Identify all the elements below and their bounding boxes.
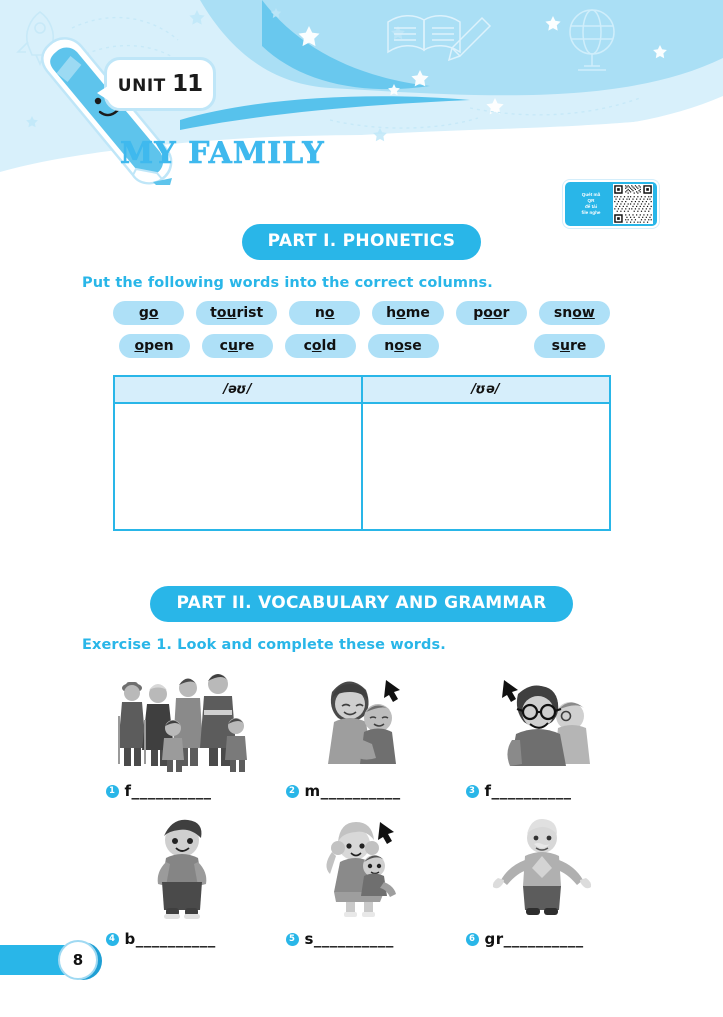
exercise-items-row-2: 4 b__________ bbox=[92, 814, 632, 948]
unit-number: 11 bbox=[172, 71, 202, 97]
column-header-uo: /ʊə/ bbox=[362, 376, 610, 403]
word-text: home bbox=[386, 305, 430, 321]
exercise-answer-6: 6 gr__________ bbox=[452, 930, 584, 948]
word-text: no bbox=[315, 305, 335, 321]
mother-hugging-child-illustration bbox=[282, 666, 442, 774]
word-text: snow bbox=[554, 305, 595, 321]
exercise-item-6: 6 gr__________ bbox=[452, 814, 632, 948]
item-number-badge: 3 bbox=[466, 785, 479, 798]
part-2-banner-wrap: PART II. VOCABULARY AND GRAMMAR bbox=[0, 586, 723, 622]
part-2-section: PART II. VOCABULARY AND GRAMMAR Exercise… bbox=[0, 586, 723, 948]
pill-spacer bbox=[451, 334, 522, 358]
word-pill[interactable]: no bbox=[289, 301, 360, 325]
exercise-answer-2: 2 m__________ bbox=[272, 782, 401, 800]
word-text: cold bbox=[304, 338, 337, 354]
page-header: UNIT 11 MY FAMILY bbox=[0, 0, 723, 185]
exercise-items-row-1: 1 f__________ bbox=[92, 666, 632, 800]
word-pill-row-1: go tourist no home poor snow bbox=[0, 301, 723, 325]
item-number-badge: 6 bbox=[466, 933, 479, 946]
exercise-item-5: 5 s__________ bbox=[272, 814, 452, 948]
father-with-daughter-illustration bbox=[462, 666, 622, 774]
exercise-1-title-wrap: Exercise 1. Look and complete these word… bbox=[0, 636, 723, 654]
item-prompt[interactable]: f__________ bbox=[125, 782, 212, 800]
unit-label: UNIT 11 bbox=[118, 71, 202, 97]
word-text: sure bbox=[552, 338, 587, 354]
item-number-badge: 5 bbox=[286, 933, 299, 946]
exercise-item-4: 4 b__________ bbox=[92, 814, 272, 948]
arrow-icon bbox=[378, 822, 394, 844]
answer-cell-ou[interactable] bbox=[114, 403, 362, 530]
word-pill[interactable]: snow bbox=[539, 301, 610, 325]
exercise-item-2: 2 m__________ bbox=[272, 666, 452, 800]
item-prompt[interactable]: b__________ bbox=[125, 930, 216, 948]
exercise-answer-4: 4 b__________ bbox=[92, 930, 216, 948]
part-1-instruction-wrap: Put the following words into the correct… bbox=[0, 274, 723, 292]
item-prompt[interactable]: s__________ bbox=[305, 930, 394, 948]
word-pill[interactable]: tourist bbox=[196, 301, 277, 325]
exercise-item-1: 1 f__________ bbox=[92, 666, 272, 800]
part-1-instruction: Put the following words into the correct… bbox=[82, 275, 493, 291]
table-header-row: /əʊ/ /ʊə/ bbox=[114, 376, 610, 403]
sister-with-doll-illustration bbox=[282, 814, 442, 922]
word-text: open bbox=[134, 338, 173, 354]
qr-code-icon bbox=[613, 184, 653, 224]
qr-label: Quét mã QR để tải file nghe bbox=[569, 192, 613, 216]
exercise-answer-1: 1 f__________ bbox=[92, 782, 212, 800]
item-prompt[interactable]: f__________ bbox=[485, 782, 572, 800]
word-pill-row-2: open cure cold nose sure bbox=[0, 334, 723, 358]
word-pill[interactable]: sure bbox=[534, 334, 605, 358]
part-2-banner: PART II. VOCABULARY AND GRAMMAR bbox=[150, 586, 572, 622]
part-1-section: PART I. PHONETICS Put the following word… bbox=[0, 224, 723, 531]
page-title: MY FAMILY bbox=[120, 136, 325, 171]
word-pill[interactable]: nose bbox=[368, 334, 439, 358]
table-row bbox=[114, 403, 610, 530]
arrow-icon bbox=[384, 680, 400, 702]
word-pill[interactable]: go bbox=[113, 301, 184, 325]
page-number-badge: 8 bbox=[58, 940, 98, 980]
word-text: cure bbox=[220, 338, 255, 354]
arrow-icon bbox=[502, 680, 518, 702]
unit-badge: UNIT 11 bbox=[104, 57, 216, 111]
exercise-item-3: 3 f__________ bbox=[452, 666, 632, 800]
boy-brother-illustration bbox=[102, 814, 262, 922]
family-group-illustration bbox=[102, 666, 262, 774]
item-number-badge: 1 bbox=[106, 785, 119, 798]
word-text: nose bbox=[384, 338, 421, 354]
grandfather-illustration bbox=[462, 814, 622, 922]
item-number-badge: 2 bbox=[286, 785, 299, 798]
word-text: go bbox=[139, 305, 159, 321]
word-text: poor bbox=[473, 305, 509, 321]
page-number: 8 bbox=[73, 951, 83, 969]
item-prompt[interactable]: m__________ bbox=[305, 782, 401, 800]
part-1-banner: PART I. PHONETICS bbox=[242, 224, 482, 260]
column-header-ou: /əʊ/ bbox=[114, 376, 362, 403]
item-number-badge: 4 bbox=[106, 933, 119, 946]
part-1-banner-wrap: PART I. PHONETICS bbox=[0, 224, 723, 260]
phonetics-table: /əʊ/ /ʊə/ bbox=[113, 375, 611, 531]
item-prompt[interactable]: gr__________ bbox=[485, 930, 584, 948]
word-text: tourist bbox=[210, 305, 263, 321]
exercise-answer-5: 5 s__________ bbox=[272, 930, 394, 948]
word-pill[interactable]: cold bbox=[285, 334, 356, 358]
answer-cell-uo[interactable] bbox=[362, 403, 610, 530]
exercise-answer-3: 3 f__________ bbox=[452, 782, 572, 800]
word-pill[interactable]: cure bbox=[202, 334, 273, 358]
exercise-1-title: Exercise 1. Look and complete these word… bbox=[82, 637, 446, 653]
word-pill[interactable]: poor bbox=[456, 301, 527, 325]
qr-audio-box[interactable]: Quét mã QR để tải file nghe bbox=[563, 180, 659, 228]
word-pill[interactable]: open bbox=[119, 334, 190, 358]
word-pill[interactable]: home bbox=[372, 301, 444, 325]
